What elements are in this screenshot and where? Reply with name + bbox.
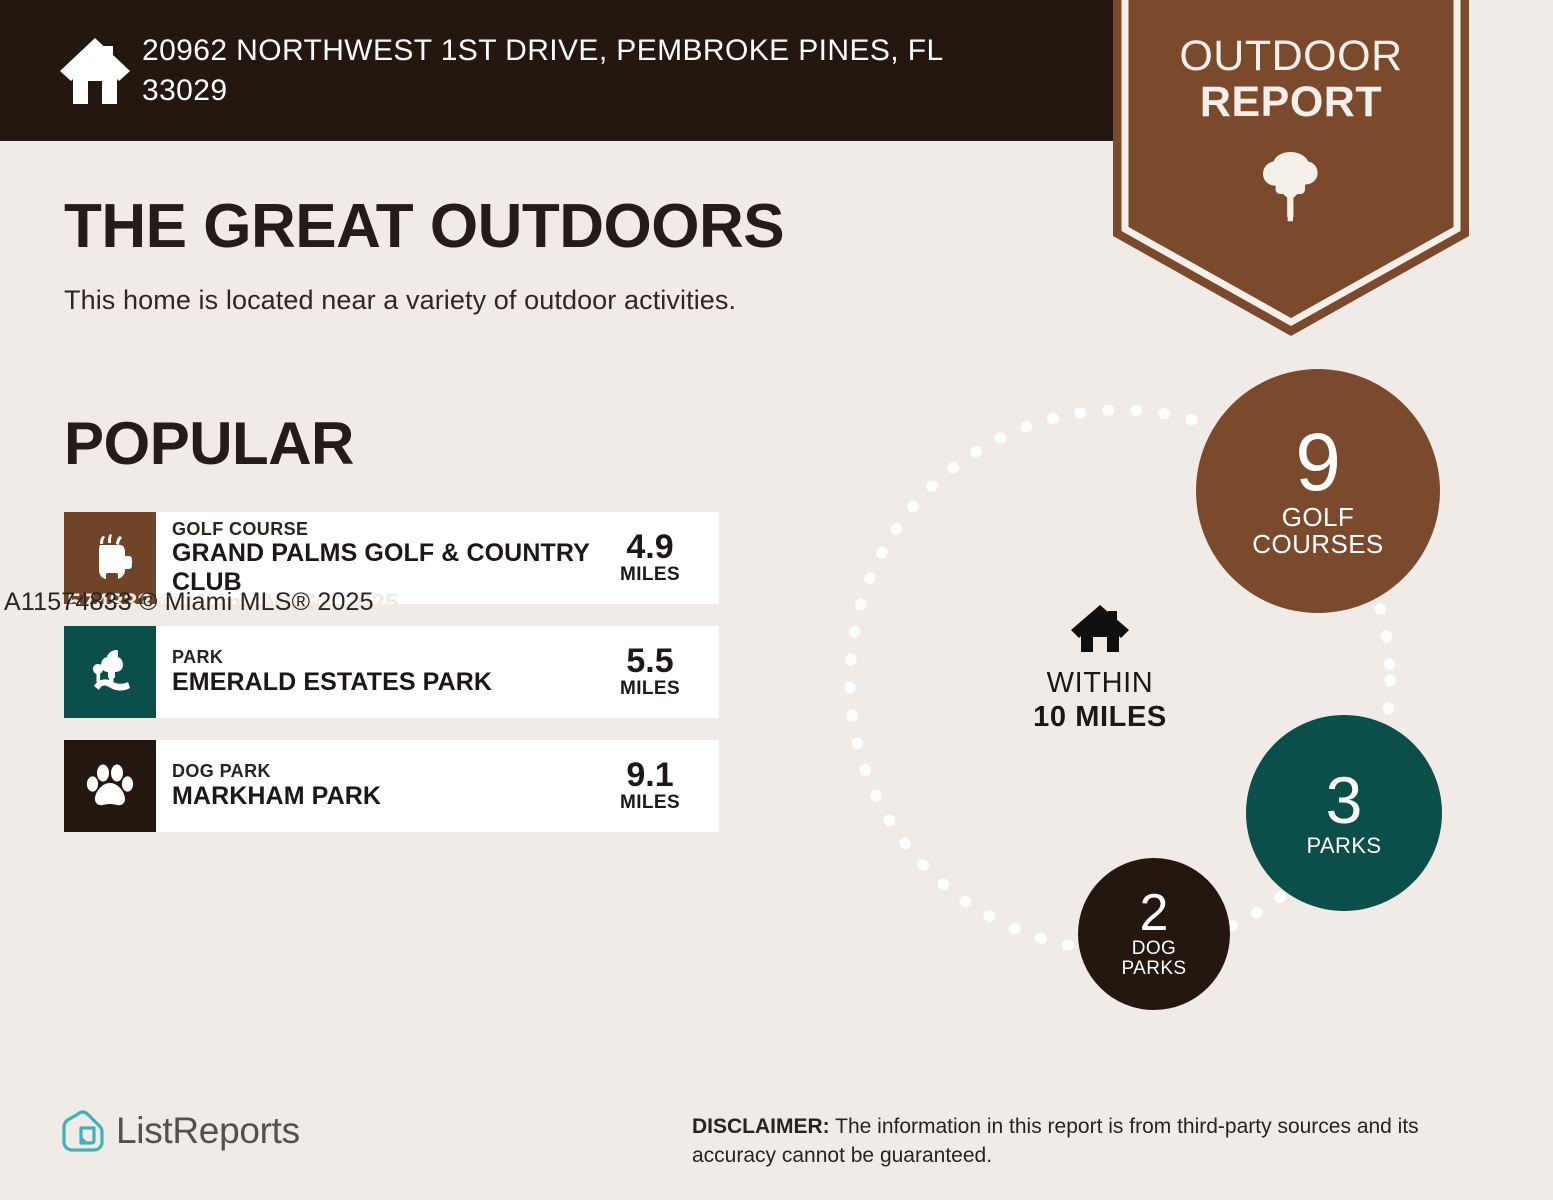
poi-name: EMERALD ESTATES PARK	[172, 668, 591, 697]
poi-distance: 9.1 MILES	[591, 758, 719, 814]
list-item[interactable]: DOG PARK MARKHAM PARK 9.1 MILES	[64, 740, 719, 832]
disclaimer: DISCLAIMER: The information in this repo…	[692, 1113, 1502, 1170]
section-heading-popular: POPULAR	[64, 414, 354, 474]
poi-icon-tile	[64, 740, 156, 832]
stat-value: 3	[1326, 769, 1363, 832]
stat-circle-parks[interactable]: 3 PARKS	[1246, 715, 1442, 911]
poi-distance-unit: MILES	[591, 565, 709, 586]
badge-text: OUTDOOR REPORT	[1113, 34, 1469, 125]
stat-circle-golf-courses[interactable]: 9 GOLF COURSES	[1196, 369, 1440, 613]
poi-distance-unit: MILES	[591, 679, 709, 700]
listreports-logo[interactable]: ListReports	[60, 1108, 300, 1154]
poi-body: PARK EMERALD ESTATES PARK 5.5 MILES	[156, 626, 719, 718]
header-right-strip	[1468, 0, 1553, 141]
poi-category: GOLF COURSE	[172, 519, 591, 540]
poi-distance: 4.9 MILES	[591, 530, 719, 586]
poi-category: PARK	[172, 647, 591, 668]
home-icon	[1000, 602, 1200, 659]
mls-watermark: A11574833 © Miami MLS® 2025	[4, 588, 374, 617]
poi-category: DOG PARK	[172, 761, 591, 782]
poi-body: DOG PARK MARKHAM PARK 9.1 MILES	[156, 740, 719, 832]
stat-label: GOLF COURSES	[1252, 504, 1383, 559]
poi-labels: GOLF COURSE GRAND PALMS GOLF & COUNTRY C…	[172, 519, 591, 598]
outdoor-report-page: 20962 NORTHWEST 1ST DRIVE, PEMBROKE PINE…	[0, 0, 1553, 1200]
popular-list: GOLF COURSE GRAND PALMS GOLF & COUNTRY C…	[64, 512, 719, 854]
stat-label: PARKS	[1307, 834, 1382, 857]
home-icon	[56, 34, 134, 108]
poi-distance-value: 5.5	[591, 644, 709, 679]
property-address: 20962 NORTHWEST 1ST DRIVE, PEMBROKE PINE…	[142, 31, 1012, 110]
stat-value: 9	[1295, 424, 1341, 502]
amenities-infographic: 9 GOLF COURSES 3 PARKS 2 DOG PARKS WITHI…	[830, 360, 1490, 1040]
outdoor-report-badge: OUTDOOR REPORT	[1113, 0, 1469, 336]
list-item[interactable]: PARK EMERALD ESTATES PARK 5.5 MILES	[64, 626, 719, 718]
center-text-line-1: WITHIN	[1000, 667, 1200, 701]
paw-print-icon	[84, 760, 136, 812]
poi-name: MARKHAM PARK	[172, 782, 591, 811]
badge-line-2: REPORT	[1113, 80, 1469, 126]
page-title: THE GREAT OUTDOORS	[64, 196, 784, 258]
stat-circle-dog-parks[interactable]: 2 DOG PARKS	[1078, 858, 1230, 1010]
golf-bag-icon	[84, 532, 136, 584]
disclaimer-label: DISCLAIMER:	[692, 1115, 830, 1138]
infographic-center: WITHIN 10 MILES	[1000, 602, 1200, 734]
stat-value: 2	[1140, 889, 1169, 938]
poi-distance-value: 4.9	[591, 530, 709, 565]
poi-labels: PARK EMERALD ESTATES PARK	[172, 647, 591, 697]
stat-label: DOG PARKS	[1121, 939, 1186, 979]
listreports-wordmark: ListReports	[116, 1110, 300, 1152]
poi-distance-unit: MILES	[591, 793, 709, 814]
poi-distance: 5.5 MILES	[591, 644, 719, 700]
page-subtitle: This home is located near a variety of o…	[64, 285, 736, 316]
listreports-house-icon	[60, 1108, 106, 1154]
poi-labels: DOG PARK MARKHAM PARK	[172, 761, 591, 811]
poi-distance-value: 9.1	[591, 758, 709, 793]
center-text-line-2: 10 MILES	[1000, 701, 1200, 735]
poi-icon-tile	[64, 626, 156, 718]
park-trees-icon	[84, 646, 136, 698]
badge-line-1: OUTDOOR	[1113, 34, 1469, 80]
